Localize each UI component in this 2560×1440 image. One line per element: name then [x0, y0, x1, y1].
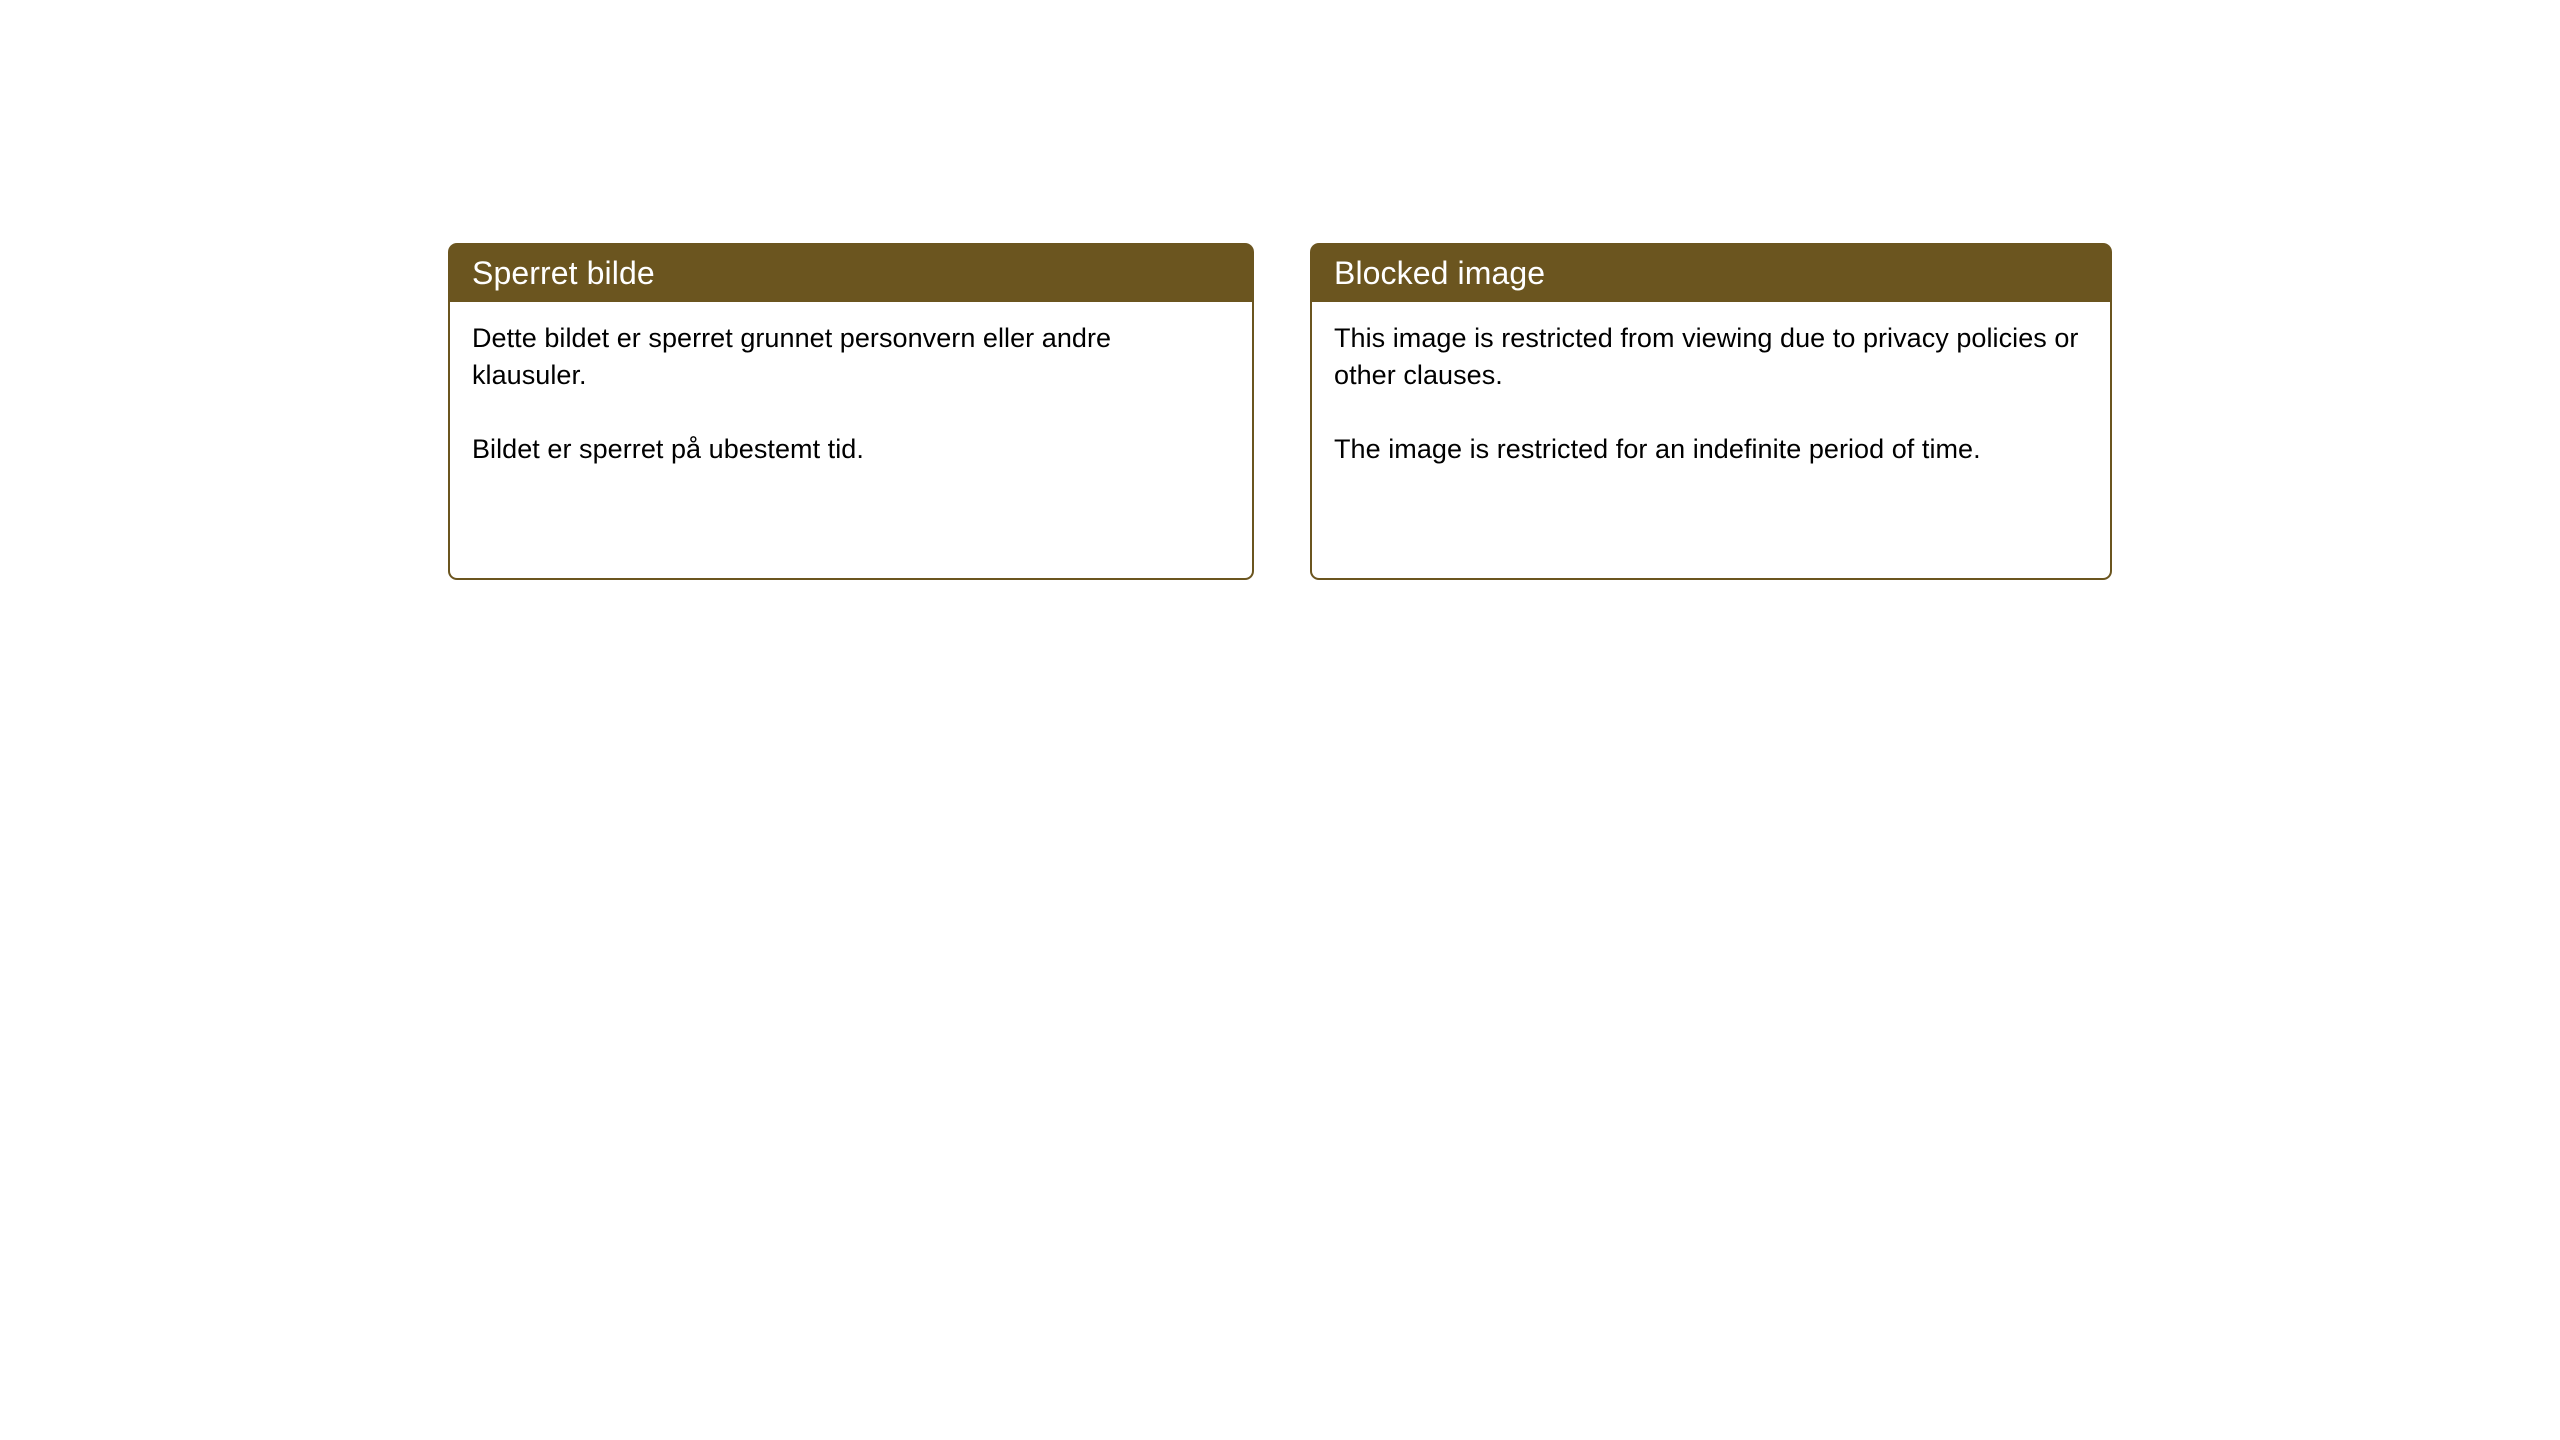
panel-header-norwegian: Sperret bilde: [448, 243, 1254, 302]
page-canvas: Sperret bilde Dette bildet er sperret gr…: [0, 0, 2560, 1440]
blocked-image-notice-norwegian: Sperret bilde Dette bildet er sperret gr…: [448, 243, 1254, 580]
blocked-image-notice-english: Blocked image This image is restricted f…: [1310, 243, 2112, 580]
panel-header-english: Blocked image: [1310, 243, 2112, 302]
panel-paragraph-restriction-reason-english: This image is restricted from viewing du…: [1334, 320, 2088, 394]
panel-paragraph-restriction-duration-norwegian: Bildet er sperret på ubestemt tid.: [472, 431, 1230, 468]
panel-body-english: This image is restricted from viewing du…: [1310, 302, 2112, 580]
panel-paragraph-restriction-duration-english: The image is restricted for an indefinit…: [1334, 431, 2088, 468]
panel-title-english: Blocked image: [1334, 256, 1545, 290]
panel-paragraph-restriction-reason-norwegian: Dette bildet er sperret grunnet personve…: [472, 320, 1230, 394]
panel-body-norwegian: Dette bildet er sperret grunnet personve…: [448, 302, 1254, 580]
panel-title-norwegian: Sperret bilde: [472, 256, 655, 290]
